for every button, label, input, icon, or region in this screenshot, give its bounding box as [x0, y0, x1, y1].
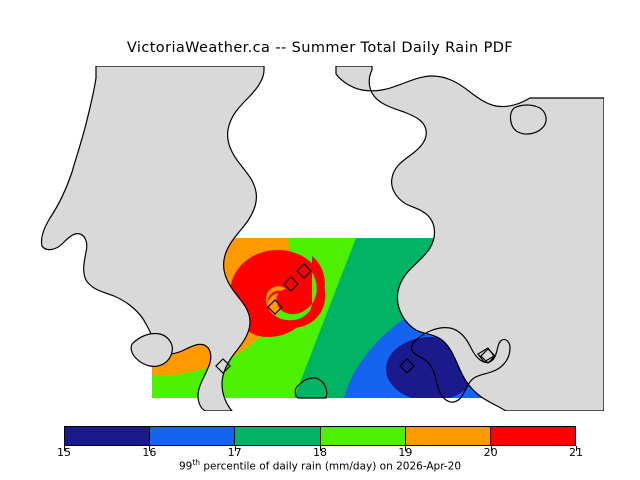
colorbar-segment[interactable] — [321, 427, 406, 445]
map-canvas[interactable] — [36, 66, 604, 411]
colorbar-segment[interactable] — [235, 427, 320, 445]
colorbar-strip[interactable] — [64, 426, 576, 446]
caption-ordinal-suffix: th — [192, 458, 200, 467]
colorbar-segment[interactable] — [150, 427, 235, 445]
caption-rest: percentile of daily rain (mm/day) on 202… — [200, 461, 461, 473]
weather-map-page: VictoriaWeather.ca -- Summer Total Daily… — [0, 0, 640, 480]
colorbar-segment[interactable] — [406, 427, 491, 445]
colorbar-segment[interactable] — [491, 427, 575, 445]
island-northeast — [511, 105, 547, 134]
map-panel[interactable] — [36, 66, 604, 411]
colorbar[interactable] — [64, 426, 576, 446]
colorbar-caption: 99th percentile of daily rain (mm/day) o… — [0, 458, 640, 473]
caption-prefix: 99 — [179, 461, 192, 473]
page-title: VictoriaWeather.ca -- Summer Total Daily… — [0, 40, 640, 56]
colorbar-segment[interactable] — [65, 427, 150, 445]
